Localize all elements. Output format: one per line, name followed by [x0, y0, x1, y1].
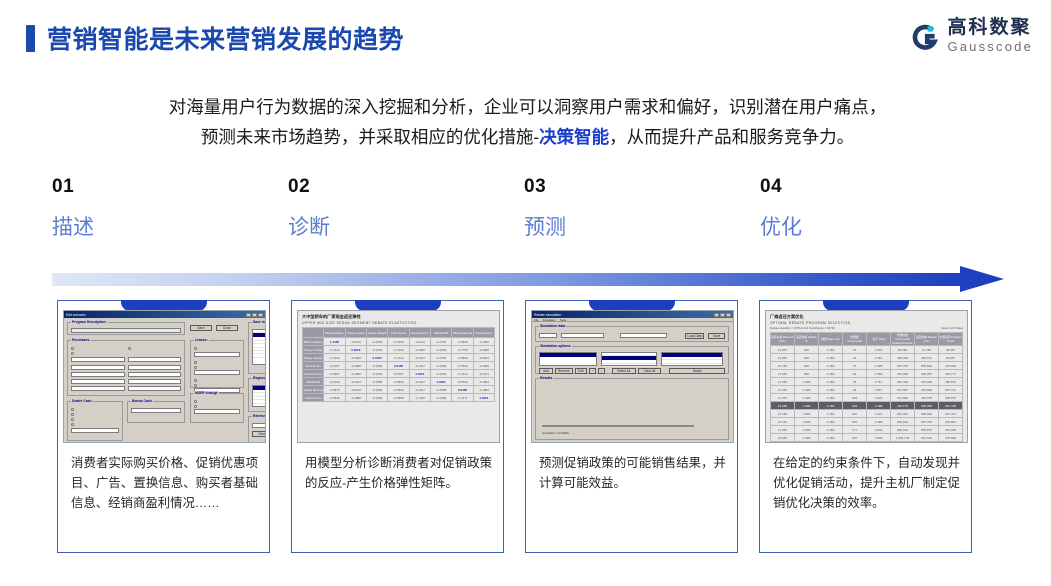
radio-inc-apr[interactable]: [71, 351, 125, 356]
progress-arrow: [52, 266, 1002, 292]
group-label: Leases:: [194, 338, 209, 342]
table-cell: 1 083 178: [891, 434, 915, 442]
logo-cn: 高科数聚: [947, 17, 1031, 38]
table-note: Nearly Unit Sales: [941, 326, 963, 330]
table-cell: 2 556: [867, 370, 891, 378]
move-down-button[interactable]: ↓: [598, 368, 605, 374]
market-input-select[interactable]: [539, 333, 557, 338]
matrix-col-header: Honda Accord: [409, 328, 430, 338]
msrp-change-input[interactable]: [194, 409, 240, 414]
model-options-listbox[interactable]: [601, 352, 657, 366]
table-cell: 204 861: [939, 418, 963, 426]
lead-line-2a: 预测未来市场趋势，并采取相应的优化措施-: [201, 127, 539, 147]
table-row: 21 0252 2001 1501713 644992 910803 87318…: [771, 426, 963, 434]
group-label: Simulation options: [539, 344, 572, 348]
table-title-cn: 大中型轿车的厂家现金返还弹性: [302, 314, 495, 320]
table-subtitle: Rebate elasticity = 0.8712 Unit Contribu…: [770, 326, 835, 330]
table-title-en: OPTIMAL REBATE PROGRAM SELECTION: [770, 321, 963, 325]
table-cell: 270 754: [891, 362, 915, 370]
table-cell: 92 657: [939, 354, 963, 362]
matrix-cell: -0.2669: [430, 362, 451, 370]
table-col-header: 增量收益 Incremental Dealer Revenue: [891, 333, 915, 346]
matrix-cell: -0.6766: [324, 378, 345, 386]
matrix-cell: -2.1663: [473, 378, 494, 386]
table-cell: 2 691: [867, 346, 891, 354]
matrix-cell: -0.6707: [324, 362, 345, 370]
table-cell: 361 058: [891, 370, 915, 378]
table-cell: 1 000: [795, 378, 819, 386]
matrix-row-header: Ford Taurus: [303, 362, 324, 370]
card-diagnose[interactable]: 大中型轿车的厂家现金返还弹性 UPPER MID-SIZE SEDAN SEGM…: [291, 300, 504, 553]
radio-not-offered[interactable]: [128, 346, 182, 351]
group-program-description: Program Description:: [67, 322, 185, 335]
step-number: 02: [288, 176, 488, 198]
table-cell: 697 746: [915, 418, 939, 426]
table-row: Buick LeSabre1.1568-0.3742-0.2018-0.7254…: [303, 338, 495, 346]
table-row: Chevy Lumina-0.73102.2622-0.1091-0.7293-…: [303, 346, 495, 354]
table-cell: 90 248: [891, 346, 915, 354]
table-cell: 156: [843, 418, 867, 426]
window-controls: [246, 313, 263, 317]
matrix-cell: -0.8240: [452, 338, 473, 346]
table-row: 21 9752001 150152 69190 24841 75048 497: [771, 346, 963, 354]
table-cell: 451 303: [891, 378, 915, 386]
segment-select[interactable]: [561, 333, 603, 338]
table-row: Honda Accord-0.5497-0.1986-0.1042-0.5767…: [303, 370, 495, 378]
card-optimize[interactable]: 厂商返还方案优化 OPTIMAL REBATE PROGRAM SELECTIO…: [759, 300, 972, 553]
arrow-head-icon: [960, 266, 1004, 292]
matrix-row-header: Mazda 626: [303, 378, 324, 386]
group-results: Results Dodge Dakota simDodge Dakota act…: [535, 378, 729, 440]
table-cell: 21 975: [771, 346, 795, 354]
table-title-cn: 厂商返还方案优化: [770, 314, 963, 320]
matrix-cell: -0.1869: [366, 386, 387, 394]
matrix-cell: 0.6752: [366, 354, 387, 362]
table-cell: 203: [843, 442, 867, 444]
page-title: 营销智能是未来营销发展的趋势: [26, 20, 404, 56]
table-cell: 21 375: [771, 394, 795, 402]
matrix-cell: -0.3028: [345, 354, 366, 362]
table-cell: 20 935: [771, 434, 795, 442]
add-button[interactable]: Add: [539, 368, 553, 374]
table-cell: 1 150: [819, 402, 843, 410]
table-row: 21 7356001 150472 405270 754545 842134 9…: [771, 362, 963, 370]
table-cell: 912 184: [915, 434, 939, 442]
matrix-cell: -0.1042: [366, 370, 387, 378]
matrix-cell: -0.2794: [430, 338, 451, 346]
step-label: 优化: [760, 211, 960, 241]
retrieve-model-select[interactable]: [252, 423, 266, 428]
move-up-button[interactable]: ↑: [589, 368, 596, 374]
menu-item[interactable]: File: [534, 318, 539, 321]
step-number: 01: [52, 176, 252, 198]
dealer-cash-input[interactable]: [71, 428, 119, 433]
clear-button[interactable]: Clear: [252, 431, 266, 437]
load-data-button[interactable]: Load Data: [685, 333, 705, 339]
matrix-cell: -0.7293: [388, 346, 409, 354]
card-caption: 在给定的约束条件下，自动发现并优化促销活动，提升主机厂制定促销优化决策的效率。: [773, 453, 960, 513]
matrix-row-header: Honda Accord: [303, 370, 324, 378]
logo-text: 高科数聚 Gausscode: [947, 18, 1033, 56]
table-cell: 509 359: [915, 402, 939, 410]
group-label: Dealer Cash: [71, 399, 93, 403]
lead-line-2b: ，从而提升产品和服务竞争力。: [609, 127, 854, 147]
step-label: 诊断: [288, 211, 488, 241]
lease-rate-input[interactable]: [194, 370, 240, 375]
table-cell: 48 497: [939, 346, 963, 354]
lead-highlight: 决策智能: [539, 127, 609, 147]
matrix-row-header: Nissan Maxima: [303, 386, 324, 394]
matrix-cell: -0.6679: [324, 386, 345, 394]
step-list: 01 描述 02 诊断 03 预测 04 优化: [52, 176, 1012, 256]
output-options-listbox[interactable]: [661, 352, 723, 366]
table-cell: 125: [843, 402, 867, 410]
screenshot-rebate-simulation: Rebate simulation FileSimulationTools Si…: [531, 310, 734, 443]
card-describe[interactable]: Edit scenario Program Description: Purch…: [57, 300, 270, 553]
matrix-cell: -0.1895: [366, 378, 387, 386]
graph-button[interactable]: Graph: [669, 368, 725, 374]
menu-item[interactable]: Tools: [560, 318, 567, 321]
matrix-cell: -2.1096: [473, 338, 494, 346]
combo-60-input[interactable]: [128, 386, 182, 391]
term-24-input[interactable]: [71, 365, 125, 370]
group-label: Purchases:: [71, 338, 91, 342]
radio-no-subsidy[interactable]: [194, 346, 240, 351]
table-row: 21 1951 8001 1501403 331812 381599 90621…: [771, 410, 963, 418]
region-select[interactable]: [620, 333, 667, 338]
model-listbox[interactable]: [252, 329, 266, 365]
group-label: Program Description:: [71, 320, 108, 324]
table-cell: 200: [795, 346, 819, 354]
chart-footnote: (Correlation = 0.94305): [542, 432, 569, 435]
table-cell: 3 956: [867, 442, 891, 444]
select-all-button[interactable]: Select All: [612, 368, 636, 374]
radio-lease-only[interactable]: [71, 422, 119, 427]
scenario-listbox[interactable]: [539, 352, 597, 366]
matrix-cell: -0.7204: [324, 354, 345, 362]
table-row: 21 6258001 150622 556361 058206 287154 7…: [771, 370, 963, 378]
table-cell: 1 150: [819, 346, 843, 354]
matrix-cell: -0.7756: [452, 346, 473, 354]
table-cell: 21 025: [771, 426, 795, 434]
matrix-cell: -2.3702: [409, 354, 430, 362]
bonus-cash-input[interactable]: [131, 408, 181, 413]
matrix-cell: -0.7254: [388, 338, 409, 346]
table-cell: 2 711: [867, 378, 891, 386]
save-button[interactable]: Save: [708, 333, 725, 339]
elasticity-matrix: Buick LeSabreChevy LuminaDodge IntrepidF…: [302, 327, 495, 402]
brand-logo: 高科数聚 Gausscode: [910, 18, 1033, 56]
table-cell: 2 000: [795, 418, 819, 426]
table-cell: 1 028 752: [915, 442, 939, 444]
matrix-cell: -0.2199: [345, 386, 366, 394]
table-cell: 541 587: [891, 386, 915, 394]
step-number: 03: [524, 176, 724, 198]
matrix-cell: -0.2794: [430, 354, 451, 362]
table-col-header: 总计 Total: [867, 333, 891, 346]
group-purchases: Purchases:: [67, 340, 185, 396]
table-cell: 170 992: [939, 434, 963, 442]
group-label: Retrieve incentives: [252, 414, 266, 418]
table-cell: 1 150: [819, 426, 843, 434]
table-cell: 20 845: [771, 442, 795, 444]
matrix-cell: -0.6589: [388, 394, 409, 402]
table-cell: 21 115: [771, 418, 795, 426]
table-cell: 902 640: [891, 418, 915, 426]
table-cell: 134 903: [939, 362, 963, 370]
step-item-01: 01 描述: [52, 176, 252, 241]
group-dealer-cash: Dealer Cash: [67, 401, 123, 441]
menu-item[interactable]: Simulation: [543, 318, 556, 321]
logo-en: Gausscode: [947, 39, 1033, 54]
edit-button[interactable]: Edit: [575, 368, 587, 374]
table-cell: 2 261: [867, 354, 891, 362]
step-label: 描述: [52, 211, 252, 241]
group-retrieve-incentives: Retrieve incentives Clear Restore curren…: [248, 416, 266, 443]
card-predict[interactable]: Rebate simulation FileSimulationTools Si…: [525, 300, 738, 553]
matrix-cell: -0.1988: [345, 394, 366, 402]
group-regions: Region(s) Select All Clear All: [248, 378, 266, 412]
table-cell: 1 150: [819, 394, 843, 402]
matrix-col-header: Mazda 626: [430, 328, 451, 338]
simulation-chart: [542, 425, 694, 427]
matrix-cell: 8.6488: [452, 386, 473, 394]
matrix-row-header: Chevy Lumina: [303, 346, 324, 354]
matrix-cell: 4.2961: [473, 394, 494, 402]
matrix-cell: -0.5645: [324, 394, 345, 402]
rebate-amount-input[interactable]: [71, 357, 125, 362]
combo-24-input[interactable]: [128, 365, 182, 370]
screenshot-edit-scenario: Edit scenario Program Description: Purch…: [63, 310, 266, 443]
table-cell: 2 400: [795, 434, 819, 442]
table-cell: 1 800: [795, 410, 819, 418]
matrix-cell: -0.2380: [430, 394, 451, 402]
remove-button[interactable]: Remove: [555, 368, 573, 374]
matrix-cell: 1.6291: [430, 378, 451, 386]
matrix-row-header: Toyota Camry: [303, 394, 324, 402]
table-row: Mazda 626-0.6766-0.2233-0.1895-0.6954-2.…: [303, 378, 495, 386]
card-list: Edit scenario Program Description: Purch…: [57, 300, 972, 553]
title-accent-bar: [26, 25, 35, 52]
combo-36-input[interactable]: [128, 372, 182, 377]
table-cell: 206 287: [915, 370, 939, 378]
table-cell: 400: [795, 354, 819, 362]
card-caption: 预测促销政策的可能销售结果，并计算可能效益。: [539, 453, 726, 493]
matrix-col-header: Ford Taurus: [388, 328, 409, 338]
table-col-header: 增量量 Incremental: [843, 333, 867, 346]
table-cell: 1 150: [819, 354, 843, 362]
optimal-rebate-table: 实际价格 Discount Price返还金额 Rebate $销量 Base …: [770, 332, 963, 443]
table-cell: 31: [843, 354, 867, 362]
region-listbox[interactable]: [252, 385, 266, 407]
matrix-cell: -2.2606: [409, 346, 430, 354]
matrix-row-header: Buick LeSabre: [303, 338, 324, 346]
matrix-cell: -2.0808: [473, 346, 494, 354]
matrix-cell: -2.1925: [473, 362, 494, 370]
title-text: 营销智能是未来营销发展的趋势: [47, 20, 404, 56]
step-item-03: 03 预测: [524, 176, 724, 241]
card-caption: 消费者实际购买价格、促销优惠项目、广告、置换信息、购买者基础信息、经销商盈利情况…: [71, 453, 258, 513]
matrix-cell: -0.5767: [388, 370, 409, 378]
matrix-cell: -2.2337: [409, 378, 430, 386]
matrix-cell: -2.0602: [473, 354, 494, 362]
group-msrp-change: MSRP change: [190, 393, 244, 423]
table-row: Dodge Intrepid-0.7204-0.30280.6752-0.711…: [303, 354, 495, 362]
matrix-cell: 2.2622: [345, 346, 366, 354]
table-cell: 803 873: [915, 426, 939, 434]
matrix-cell: -0.7500: [452, 362, 473, 370]
matrix-cell: -0.6954: [388, 378, 409, 386]
table-cell: 1 150: [819, 378, 843, 386]
table-cell: 342 866: [915, 386, 939, 394]
win-title-text: Rebate simulation: [534, 313, 561, 317]
group-label: Save incentives: [252, 320, 266, 324]
matrix-cell: -0.1091: [366, 346, 387, 354]
matrix-cell: -0.2293: [430, 370, 451, 378]
step-number: 04: [760, 176, 960, 198]
matrix-cell: -0.1986: [345, 370, 366, 378]
table-row: Nissan Maxima-0.6679-0.2199-0.1869-0.635…: [303, 386, 495, 394]
matrix-cell: -0.7110: [388, 354, 409, 362]
table-cell: 21 735: [771, 362, 795, 370]
group-label: Region(s): [252, 376, 266, 380]
matrix-col-header: Toyota Camry: [473, 328, 494, 338]
table-col-header: 实际价格 Discount Price: [771, 333, 795, 346]
table-cell: 270 448: [915, 378, 939, 386]
table-col-header: 方案利润 Program Profit: [939, 333, 963, 346]
program-description-input[interactable]: [71, 328, 181, 333]
save-button[interactable]: Save: [190, 325, 212, 331]
table-cell: 1 150: [819, 442, 843, 444]
table-cell: 3 331: [867, 410, 891, 418]
lease-cash-input[interactable]: [194, 352, 240, 357]
table-cell: 599 906: [915, 410, 939, 418]
matrix-cell: -1.7436: [409, 394, 430, 402]
table-cell: 631 882: [891, 394, 915, 402]
group-label: Bonus Cash: [131, 399, 153, 403]
table-cell: 1 150: [819, 410, 843, 418]
table-cell: 1 173 449: [891, 442, 915, 444]
table-row: 21 3751 4001 1501093 022631 882422 57820…: [771, 394, 963, 402]
matrix-cell: -0.6352: [388, 386, 409, 394]
term-36-input[interactable]: [71, 372, 125, 377]
table-row: 21 2951 6001 1501253 198722 170509 35921…: [771, 402, 963, 410]
matrix-col-header: Nissan Maxima: [452, 328, 473, 338]
table-cell: 180 329: [891, 354, 915, 362]
table-cell: 600: [795, 362, 819, 370]
table-col-header: 返还金额 Rebate $: [795, 333, 819, 346]
group-label: Simulation data: [539, 324, 566, 328]
matrix-cell: 1.1568: [324, 338, 345, 346]
table-row: 21 5351 0001 150782 711451 303270 448180…: [771, 378, 963, 386]
matrix-col-header: Buick LeSabre: [324, 328, 345, 338]
table-cell: 2 405: [867, 362, 891, 370]
table-cell: 21 625: [771, 370, 795, 378]
card-caption: 用模型分析诊断消费者对促销政策的反应-产生价格弹性矩阵。: [305, 453, 492, 493]
group-save-incentives: Save incentives Select All Clear All: [248, 322, 266, 374]
table-cell: 21 295: [771, 402, 795, 410]
slide: 营销智能是未来营销发展的趋势 高科数聚 Gausscode 对海量用户行为数据的…: [0, 0, 1051, 586]
win-title-text: Edit scenario: [66, 313, 86, 317]
group-bonus-cash: Bonus Cash: [127, 401, 185, 423]
matrix-cell: -2.1497: [409, 362, 430, 370]
table-col-header: 返还成本 Rebate Cost: [915, 333, 939, 346]
matrix-cell: -0.8766: [452, 378, 473, 386]
term-48-input[interactable]: [71, 379, 125, 384]
table-cell: 1 150: [819, 362, 843, 370]
table-cell: 481 672: [915, 354, 939, 362]
close-button[interactable]: Close: [216, 325, 238, 331]
table-cell: 142 706: [939, 442, 963, 444]
step-label: 预测: [524, 211, 724, 241]
matrix-cell: -0.8490: [452, 354, 473, 362]
table-cell: 140: [843, 410, 867, 418]
table-cell: 3 198: [867, 402, 891, 410]
table-cell: 21 195: [771, 410, 795, 418]
matrix-col-header: Dodge Intrepid: [366, 328, 387, 338]
matrix-cell: -0.2838: [430, 386, 451, 394]
matrix-cell: -0.2988: [345, 362, 366, 370]
table-cell: 62: [843, 370, 867, 378]
table-cell: 109: [843, 394, 867, 402]
table-cell: 187: [843, 434, 867, 442]
table-cell: 181 038: [939, 426, 963, 434]
table-cell: 78: [843, 378, 867, 386]
table-cell: 3 022: [867, 394, 891, 402]
combo-48-input[interactable]: [128, 379, 182, 384]
group-label: Results: [539, 376, 553, 380]
matrix-cell: -0.7310: [324, 346, 345, 354]
matrix-cell: -2.2712: [409, 338, 430, 346]
lead-line-1: 对海量用户行为数据的深入挖掘和分析，企业可以洞察用户需求和偏好，识别潜在用户痛点…: [169, 97, 887, 117]
group-simulation-options: Simulation options: [535, 346, 729, 374]
matrix-cell: -0.5497: [324, 370, 345, 378]
table-row: 21 1152 0001 1501563 489902 640697 74620…: [771, 418, 963, 426]
table-cell: 1 600: [795, 402, 819, 410]
table-cell: 21 535: [771, 378, 795, 386]
table-row: Toyota Camry-0.5645-0.1988-0.1560-0.6589…: [303, 394, 495, 402]
matrix-cell: -0.1560: [366, 394, 387, 402]
table-cell: 180 874: [939, 378, 963, 386]
table-cell: 197 741: [939, 386, 963, 394]
table-cell: 422 578: [915, 394, 939, 402]
table-cell: 1 200: [795, 386, 819, 394]
table-row: 21 8254001 150312 261180 329481 67292 65…: [771, 354, 963, 362]
table-cell: 1 150: [819, 370, 843, 378]
slide-header: 营销智能是未来营销发展的趋势 高科数聚 Gausscode: [0, 0, 1051, 78]
table-row: 20 9352 4001 1501873 8001 083 178912 184…: [771, 434, 963, 442]
screenshot-optimal-rebate: 厂商返还方案优化 OPTIMAL REBATE PROGRAM SELECTIO…: [765, 310, 968, 443]
table-cell: 212 427: [939, 410, 963, 418]
matrix-cell: -2.1882: [473, 386, 494, 394]
table-row: Ford Taurus-0.6707-0.2988-0.18600.9480-2…: [303, 362, 495, 370]
table-cell: 992 910: [891, 426, 915, 434]
matrix-cell: -0.3742: [345, 338, 366, 346]
matrix-row-header: Dodge Intrepid: [303, 354, 324, 362]
table-cell: 2 200: [795, 426, 819, 434]
screenshot-rebate-elasticities: 大中型轿车的厂家现金返还弹性 UPPER MID-SIZE SEDAN SEGM…: [297, 310, 500, 443]
clear-all-button[interactable]: Clear All: [638, 368, 662, 374]
group-simulation-data: Simulation data Load Data Save: [535, 326, 729, 342]
table-cell: 2 867: [867, 386, 891, 394]
table-row: 21 4451 2001 150942 867541 587342 866197…: [771, 386, 963, 394]
matrix-cell: -2.1207: [409, 386, 430, 394]
term-60-input[interactable]: [71, 386, 125, 391]
step-item-04: 04 优化: [760, 176, 960, 241]
combo-amount-input[interactable]: [128, 357, 182, 362]
matrix-cell: -0.7371: [452, 394, 473, 402]
table-cell: 2 600: [795, 442, 819, 444]
